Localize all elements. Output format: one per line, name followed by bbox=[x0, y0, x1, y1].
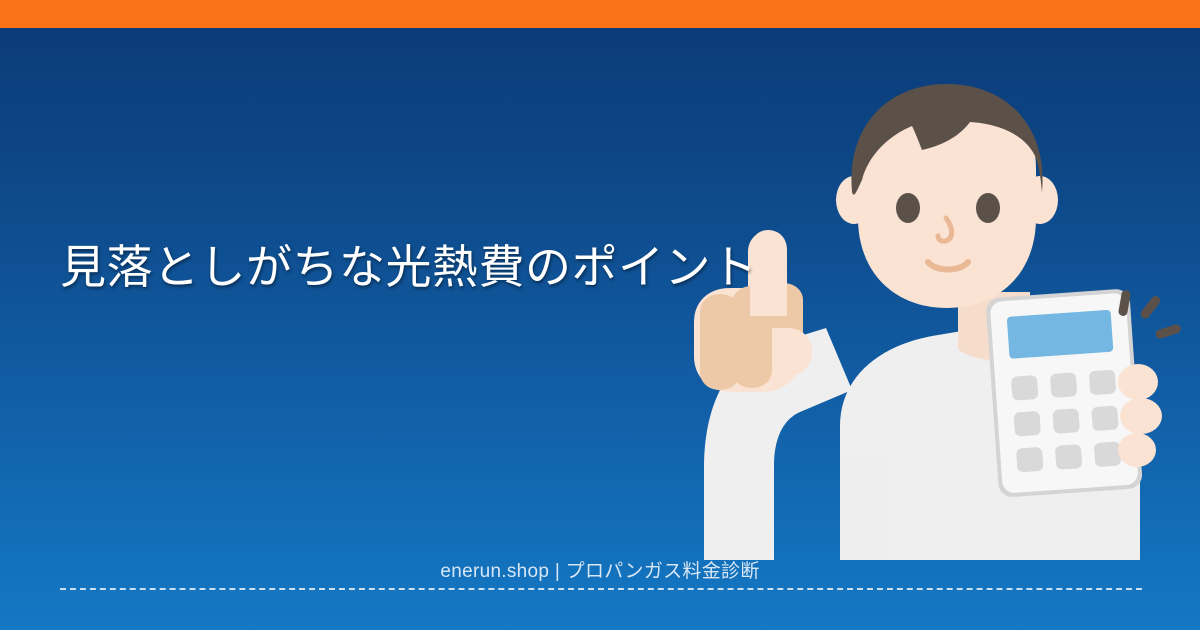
top-accent-bar bbox=[0, 0, 1200, 28]
calculator bbox=[985, 288, 1143, 498]
right-eye bbox=[976, 193, 1000, 223]
og-image-card: 見落としがちな光熱費のポイント enerun.shop | プロパンガス料金診断 bbox=[0, 0, 1200, 630]
footer: enerun.shop | プロパンガス料金診断 bbox=[0, 560, 1200, 630]
gripping-fingers bbox=[1118, 364, 1162, 467]
calculator-keys bbox=[1011, 370, 1121, 473]
page-title: 見落としがちな光熱費のポイント bbox=[60, 238, 760, 296]
calculator-display bbox=[1007, 310, 1114, 359]
head bbox=[836, 84, 1058, 308]
footer-divider bbox=[60, 588, 1142, 590]
footer-site-credit: enerun.shop | プロパンガス料金診断 bbox=[0, 560, 1200, 584]
left-eye bbox=[896, 193, 920, 223]
illustration-person-with-calculator bbox=[640, 60, 1200, 560]
